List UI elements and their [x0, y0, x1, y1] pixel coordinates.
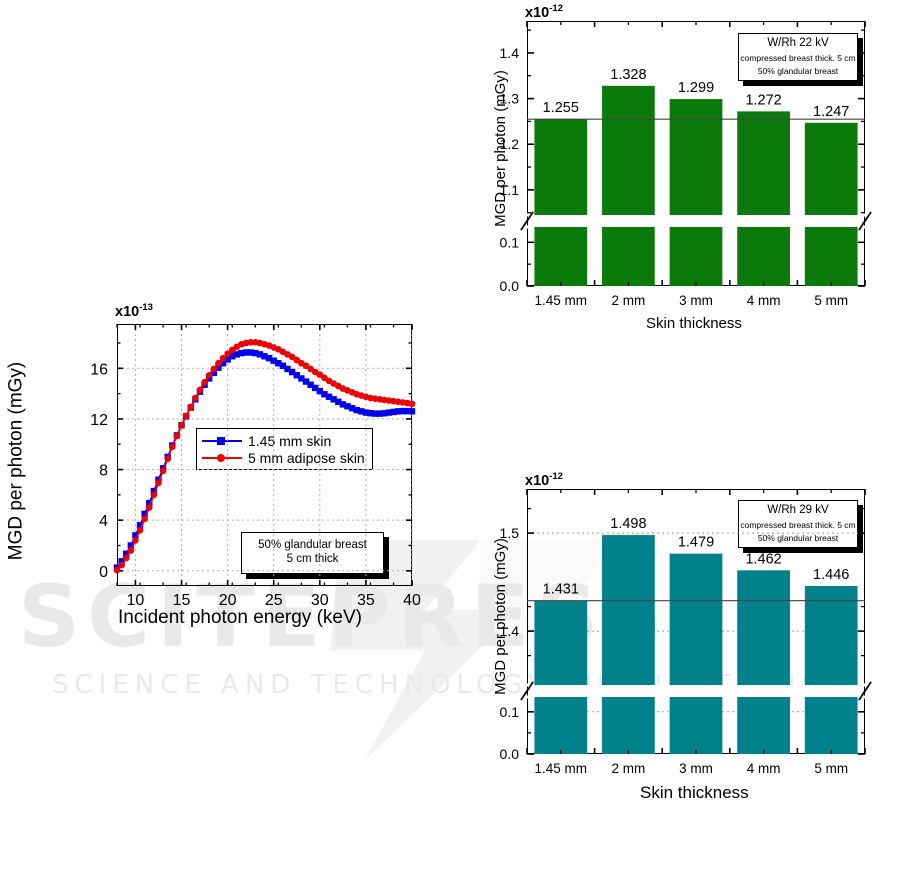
line-chart-ytick-label: 8 — [99, 463, 108, 480]
legend-label-series-1: 5 mm adipose skin — [248, 450, 365, 466]
line-chart-y-exponent: x10-13 — [115, 302, 153, 320]
legend-key-blue-square-icon — [202, 435, 242, 447]
line-chart-ytick-label: 0 — [99, 564, 108, 581]
bar22-xtick-label: 5 mm — [814, 293, 848, 308]
line-chart-ytick-label: 12 — [90, 412, 108, 429]
bar29-xtick-label: 3 mm — [679, 761, 713, 776]
annotation-line-1: W/Rh 29 kV — [739, 501, 857, 516]
bar29-ytick-label: 0.0 — [500, 746, 520, 762]
bar-chart-22kv: x10-12 MGD per photon (mGy) Skin thickne… — [490, 0, 901, 340]
annotation-line-2: 5 cm thick — [242, 551, 383, 565]
bar29-annotation: W/Rh 29 kV compressed breast thick. 5 cm… — [738, 500, 858, 548]
annotation-line-2: compressed breast thick. 5 cm — [739, 516, 857, 530]
annotation-line-1: 50% glandular breast — [242, 533, 383, 551]
line-chart-x-axis-title: Incident photon energy (keV) — [118, 607, 362, 629]
legend-label-series-0: 1.45 mm skin — [248, 433, 331, 449]
annotation-line-3: 50% glandular breast — [739, 530, 857, 543]
bar29-x-axis-title: Skin thickness — [640, 783, 749, 803]
bar29-y-exponent: x10-12 — [525, 471, 563, 489]
annotation-line-3: 50% glandular breast — [739, 63, 857, 76]
legend-item-series-0: 1.45 mm skin — [202, 432, 365, 449]
legend-item-series-1: 5 mm adipose skin — [202, 449, 365, 466]
bar22-x-axis-title: Skin thickness — [646, 315, 742, 332]
bar22-ytick-label: 0.0 — [500, 278, 520, 294]
bar22-y-exponent: x10-12 — [525, 3, 563, 21]
bar29-y-axis-title: MGD per photon (mGy) — [492, 538, 509, 695]
line-chart-legend: 1.45 mm skin 5 mm adipose skin — [196, 428, 373, 470]
bar22-xtick-label: 1.45 mm — [535, 293, 588, 308]
line-chart-ytick-label: 16 — [90, 361, 108, 378]
line-chart-ytick-label: 4 — [99, 513, 108, 530]
bar22-ytick-label: 0.1 — [500, 234, 520, 250]
bar29-xtick-label: 2 mm — [612, 761, 646, 776]
line-chart: x10-13 MGD per photon (mGy) Incident pho… — [0, 300, 450, 650]
line-chart-xtick-label: 40 — [403, 592, 421, 609]
line-chart-y-axis-title: MGD per photon (mGy) — [5, 362, 27, 561]
annotation-line-2: compressed breast thick. 5 cm — [739, 49, 857, 63]
line-chart-annotation: 50% glandular breast 5 cm thick — [241, 532, 384, 574]
bar22-y-axis-title: MGD per photon (mGy) — [492, 70, 509, 227]
bar29-xtick-label: 5 mm — [814, 761, 848, 776]
bar29-ytick-label: 0.1 — [500, 704, 520, 720]
bar22-xtick-label: 2 mm — [612, 293, 646, 308]
bar22-annotation: W/Rh 22 kV compressed breast thick. 5 cm… — [738, 33, 858, 81]
legend-key-red-circle-icon — [202, 452, 242, 464]
bar-chart-29kv: x10-12 MGD per photon (mGy) Skin thickne… — [490, 460, 901, 805]
bar22-xtick-label: 3 mm — [679, 293, 713, 308]
bar22-ytick-label: 1.4 — [500, 45, 520, 61]
bar29-xtick-label: 1.45 mm — [535, 761, 588, 776]
bar29-xtick-label: 4 mm — [747, 761, 781, 776]
bar22-xtick-label: 4 mm — [747, 293, 781, 308]
annotation-line-1: W/Rh 22 kV — [739, 34, 857, 49]
